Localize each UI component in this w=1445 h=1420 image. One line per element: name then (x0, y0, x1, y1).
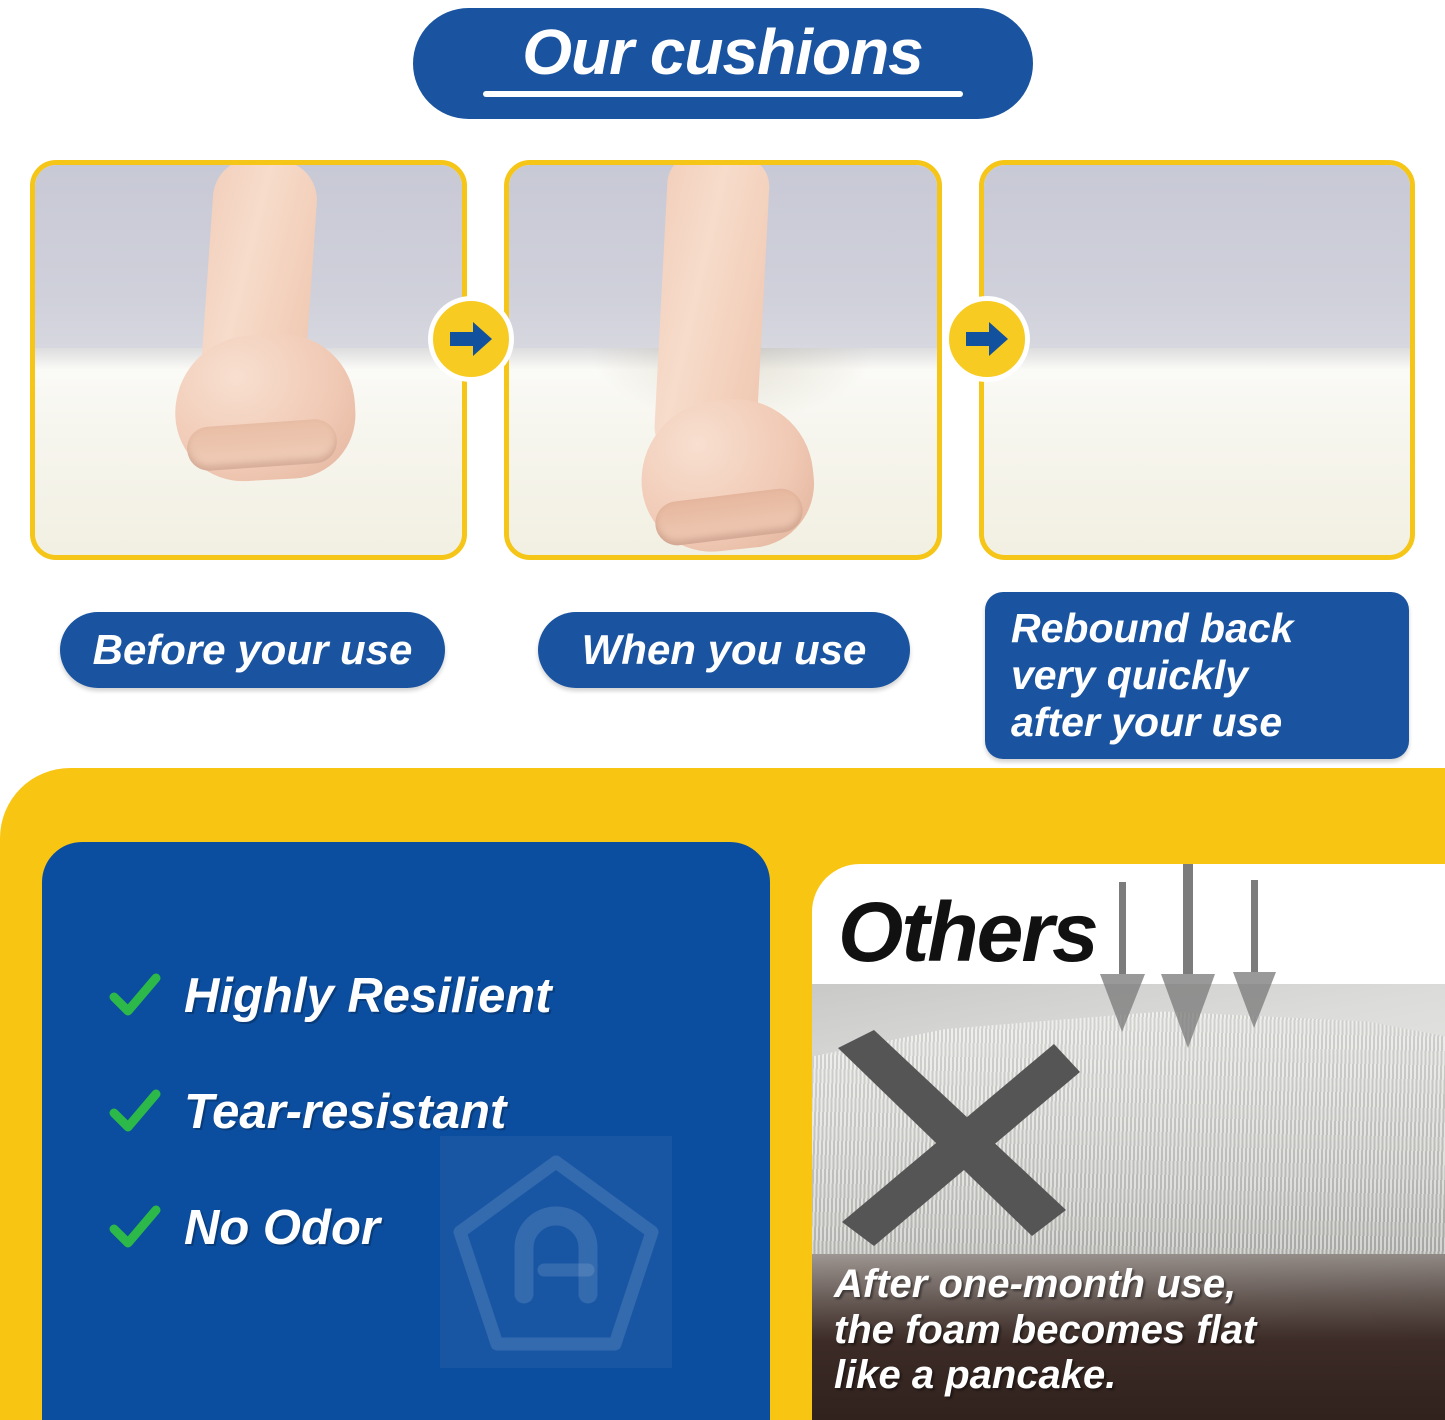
x-cross-icon (822, 1014, 1082, 1269)
step-caption-label: Before your use (93, 626, 413, 674)
feature-label: No Odor (184, 1200, 380, 1256)
others-title: Others (838, 884, 1097, 981)
step-image-after (979, 160, 1415, 560)
photo-after (984, 165, 1410, 555)
step-caption-line-1: Rebound back (1011, 605, 1409, 652)
step-caption-during: When you use (538, 612, 910, 688)
photo-background (984, 165, 1410, 348)
photo-during (509, 165, 936, 555)
step-caption-line-3: after your use (1011, 699, 1409, 746)
step-caption-line-2: very quickly (1011, 652, 1409, 699)
others-comparison-panel: Others After one-month use, the foam bec… (812, 864, 1445, 1420)
others-caption: After one-month use, the foam becomes fl… (834, 1262, 1256, 1398)
others-caption-line-3: like a pancake. (834, 1353, 1256, 1398)
step-caption-label: When you use (582, 626, 867, 674)
check-icon (108, 1085, 162, 1139)
feature-label: Tear-resistant (184, 1084, 506, 1140)
down-arrow-icon (1092, 864, 1322, 1063)
check-icon (108, 1201, 162, 1255)
steps-panel-row (30, 160, 1415, 560)
feature-item: Highly Resilient (42, 938, 770, 1054)
others-caption-line-1: After one-month use, (834, 1262, 1256, 1307)
foam-edge-shadow (984, 348, 1410, 370)
step-image-before (30, 160, 467, 560)
feature-item: No Odor (42, 1170, 770, 1286)
photo-before (35, 165, 462, 555)
step-caption-after: Rebound back very quickly after your use (985, 592, 1409, 759)
arrow-right-icon (944, 296, 1030, 382)
check-icon (108, 969, 162, 1023)
title-pill: Our cushions (413, 8, 1033, 119)
feature-list: Highly Resilient Tear-resistant No Odor (42, 938, 770, 1286)
feature-label: Highly Resilient (184, 968, 552, 1024)
step-image-during (504, 160, 941, 560)
foam-surface-restored (984, 348, 1410, 555)
arrow-right-icon (428, 296, 514, 382)
others-caption-line-2: the foam becomes flat (834, 1308, 1256, 1353)
title-label: Our cushions (522, 20, 923, 84)
title-underline (483, 91, 963, 97)
feature-item: Tear-resistant (42, 1054, 770, 1170)
page-title: Our cushions (0, 8, 1445, 119)
step-caption-before: Before your use (60, 612, 445, 688)
